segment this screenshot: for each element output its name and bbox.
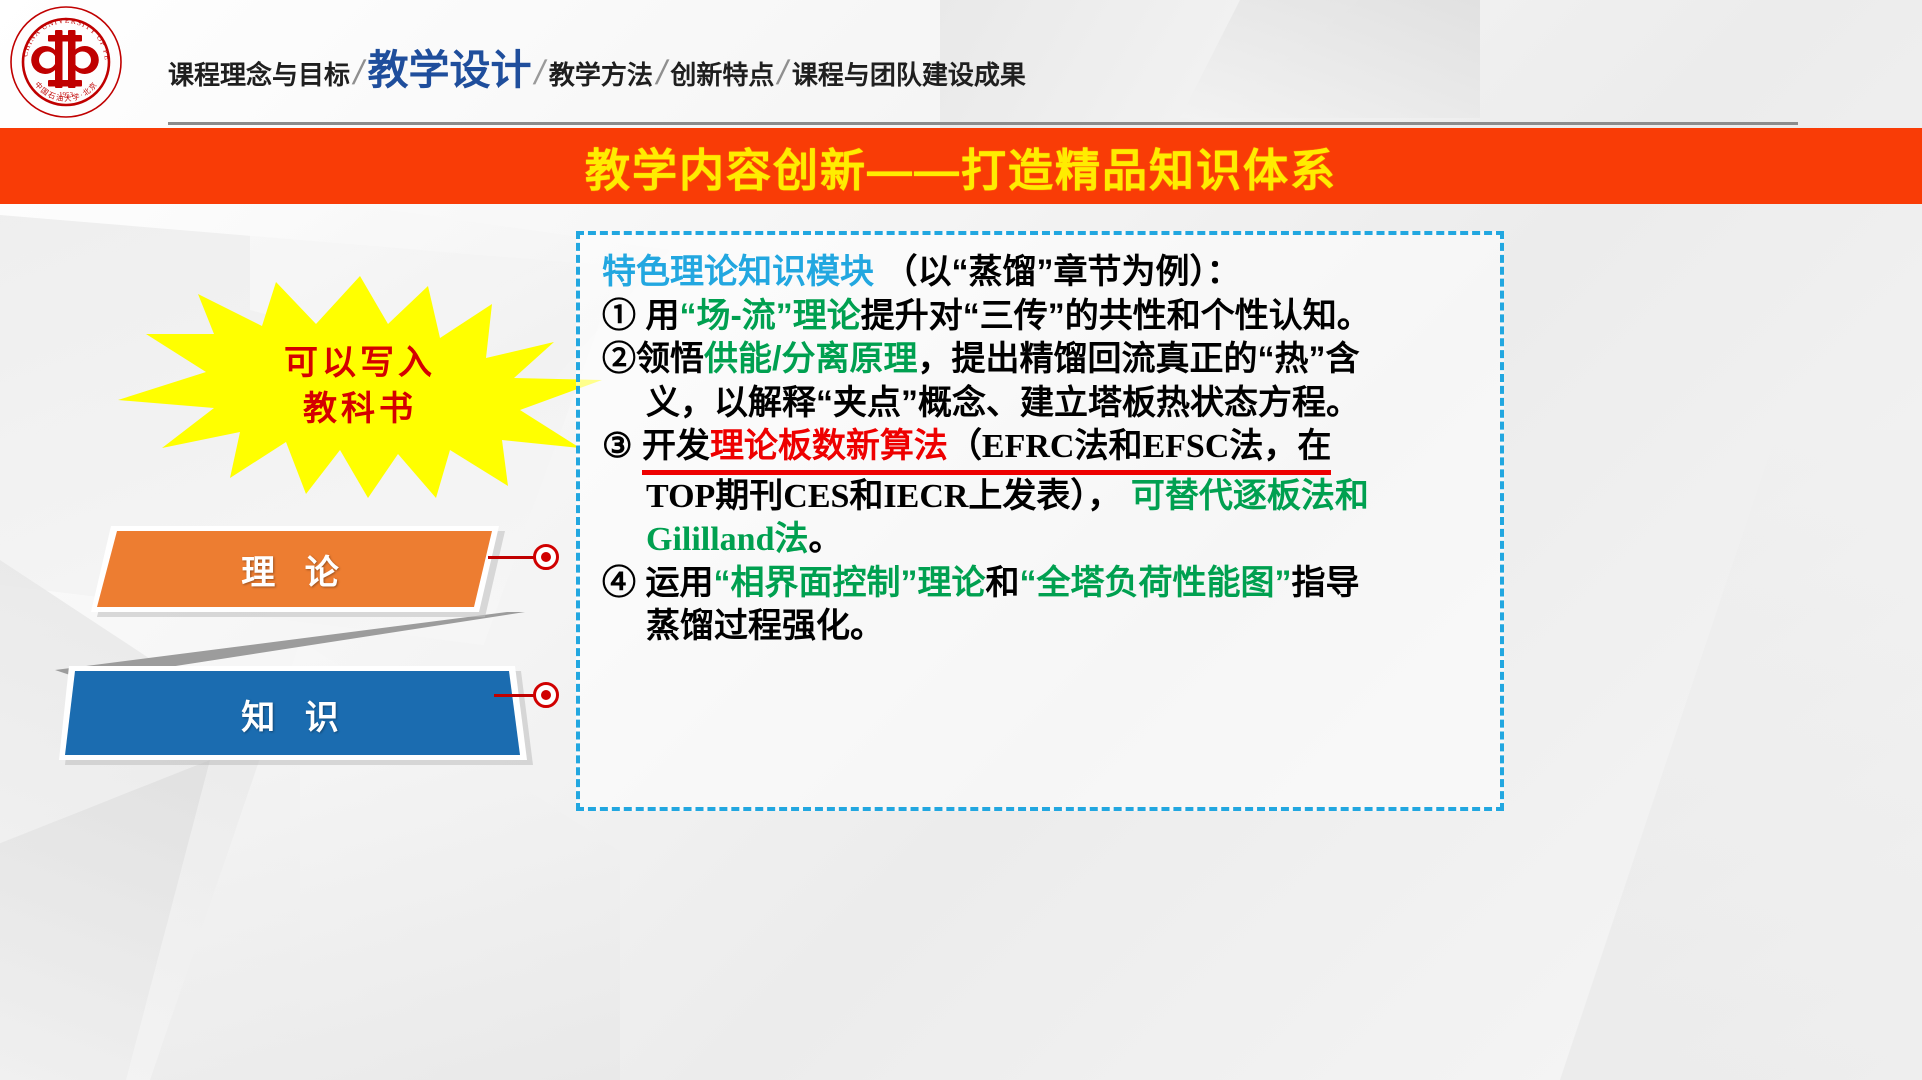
list-segment: 。 [809,520,843,558]
list-segment: 领悟 [636,340,704,378]
list-item: ②领悟供能/分离原理，提出精馏回流真正的“热”含 [602,338,1486,382]
starburst-text: 可以写入 教科书 [110,272,610,502]
list-item-continuation: 义，以解释“夹点”概念、建立塔板热状态方程。 [602,382,1486,426]
header-divider [168,122,1798,125]
starburst-line-1: 可以写入 [284,341,436,387]
nav-item-1-active[interactable]: 教学设计 [367,50,531,91]
list-segment: 义，以解释“夹点”概念、建立塔板热状态方程。 [646,384,1360,422]
list-segment: TOP期刊CES和IECR上发表）， [646,478,1121,515]
list-segment: 开发 [642,427,710,465]
list-item-continuation: 蒸馏过程强化。 [602,605,1486,649]
list-item: ③ 开发理论板数新算法（EFRC法和EFSC法，在 [602,425,1486,475]
list-segment: 提升对“三传”的共性和个性认知。 [861,297,1371,335]
target-dot-knowledge [533,682,559,708]
nav-item-2[interactable]: 教学方法 [549,55,653,92]
list-segment: 可替代逐板法和 [1121,477,1368,515]
pyramid-label-knowledge: 知 识 [55,660,535,768]
list-segment: （EFRC法和EFSC法，在 [948,428,1331,465]
content-heading-rest: （以“蒸馏”章节为例）： [883,253,1240,291]
list-marker: ① [602,297,636,335]
list-marker: ④ [602,564,636,602]
list-segment: ，提出精馏回流真正的“热”含 [917,340,1359,378]
background-facet [1560,430,1922,1080]
list-segment: 供能/分离原理 [704,340,917,378]
list-item-continuation: Gililland法。 [602,518,1486,562]
list-item-continuation: TOP期刊CES和IECR上发表）， 可替代逐板法和 [602,475,1486,519]
list-segment: 用 [645,297,679,335]
list-segment: “全塔负荷性能图” [1019,564,1291,602]
starburst-callout: 可以写入 教科书 [110,272,610,502]
list-segment: “相界面控制”理论 [713,564,985,602]
list-segment-highlight: 理论板数新算法 [710,427,948,465]
pyramid-label-theory: 理 论 [85,520,505,618]
slide-canvas: CHINA UNIVERSITY OF PETROLEUM 中国石油大学·北京 … [0,0,1922,1080]
list-underlined-group: 开发理论板数新算法（EFRC法和EFSC法，在 [642,425,1331,475]
list-marker: ③ [602,427,632,465]
nav-item-0[interactable]: 课程理念与目标 [168,55,350,92]
list-segment: 指导 [1291,564,1359,602]
list-marker: ② [602,340,636,378]
breadcrumb: 课程理念与目标 / 教学设计 / 教学方法 / 创新特点 / 课程与团队建设成果 [168,50,1026,93]
pyramid-band-knowledge[interactable]: 知 识 [55,660,535,768]
list-segment: 运用 [645,564,713,602]
target-dot-theory [533,544,559,570]
svg-text:1953: 1953 [59,91,74,99]
list-segment: 和 [985,564,1019,602]
content-panel: 特色理论知识模块 （以“蒸馏”章节为例）： ① 用“场-流”理论提升对“三传”的… [576,231,1504,811]
pyramid-diagram: 理 论 知 识 [55,520,575,820]
list-item: ④ 运用“相界面控制”理论和“全塔负荷性能图”指导 [602,562,1486,606]
page-title: 教学内容创新——打造精品知识体系 [585,134,1337,199]
pyramid-band-theory[interactable]: 理 论 [85,520,505,618]
university-logo-icon: CHINA UNIVERSITY OF PETROLEUM 中国石油大学·北京 … [8,4,124,120]
nav-item-4[interactable]: 课程与团队建设成果 [792,55,1026,92]
list-segment: “场-流”理论 [679,297,860,335]
list-item: ① 用“场-流”理论提升对“三传”的共性和个性认知。 [602,295,1486,339]
section-title-banner: 教学内容创新——打造精品知识体系 [0,128,1922,204]
content-heading-accent: 特色理论知识模块 [602,253,874,291]
content-heading: 特色理论知识模块 （以“蒸馏”章节为例）： [602,251,1486,295]
slide-header: CHINA UNIVERSITY OF PETROLEUM 中国石油大学·北京 … [0,0,1922,130]
nav-item-3[interactable]: 创新特点 [670,55,774,92]
list-segment: Gililland法 [646,521,809,558]
starburst-line-2: 教科书 [303,387,417,433]
list-segment: 蒸馏过程强化。 [646,607,884,645]
